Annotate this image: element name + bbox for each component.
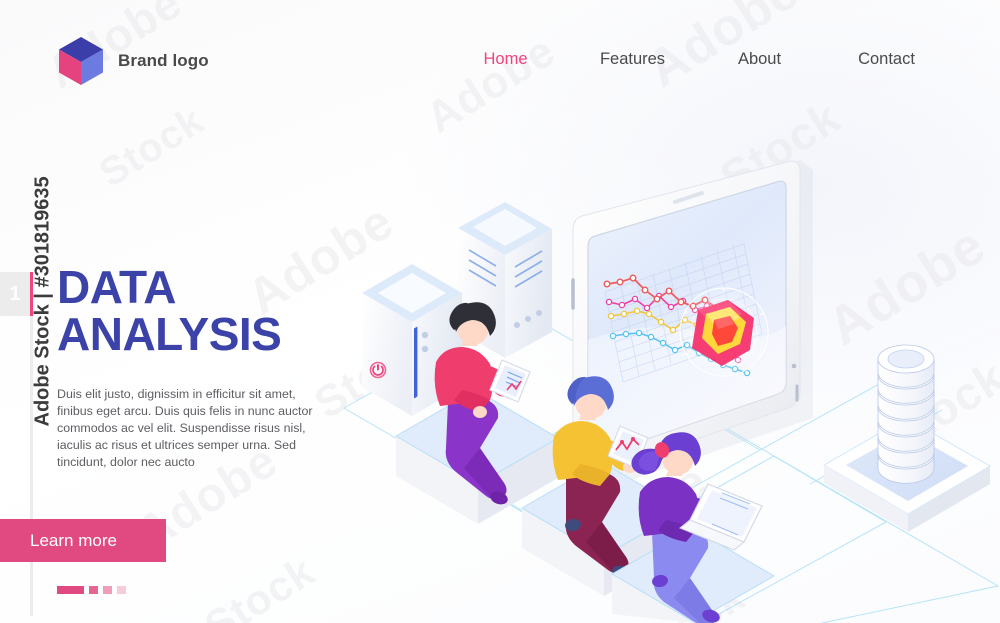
main-navigation: Home Features About Contact <box>442 50 950 69</box>
slide-number-badge: 1 <box>0 272 30 316</box>
site-header: Brand logo Home Features About Contact <box>0 0 1000 110</box>
adobe-stock-watermark: Adobe Stock | #301819635 <box>32 197 55 427</box>
nav-link-home[interactable]: Home <box>442 50 569 69</box>
page-title-line2: ANALYSIS <box>57 308 281 360</box>
pagination-dot-2[interactable] <box>89 586 98 594</box>
pagination-dot-3[interactable] <box>103 586 112 594</box>
isometric-cube-icon <box>57 36 105 86</box>
slide-number: 1 <box>0 272 30 316</box>
nav-link-features[interactable]: Features <box>569 50 696 69</box>
database-disk-stack <box>824 345 990 532</box>
hero-text-block: DATA ANALYSIS Duis elit justo, dignissim… <box>57 264 357 471</box>
nav-link-about[interactable]: About <box>696 50 823 69</box>
power-button-icon <box>371 363 386 378</box>
slider-pagination <box>57 586 126 594</box>
hero-body-text: Duis elit justo, dignissim in efficitur … <box>57 386 314 471</box>
watermark-tile: Stock <box>196 547 323 623</box>
radar-polygon-chart <box>678 286 770 378</box>
disk-group <box>878 345 934 483</box>
isometric-data-analysis-scene <box>330 150 1000 623</box>
landing-page: Adobe Stock Adobe Stock Adobe Stock Adob… <box>0 0 1000 623</box>
brand-logo[interactable]: Brand logo <box>57 36 209 86</box>
pagination-dot-1[interactable] <box>57 586 84 594</box>
learn-more-button[interactable]: Learn more <box>0 519 166 562</box>
nav-link-contact[interactable]: Contact <box>823 50 950 69</box>
page-title: DATA ANALYSIS <box>57 264 357 358</box>
pagination-dot-4[interactable] <box>117 586 126 594</box>
tablet-device-1 <box>490 360 530 402</box>
page-title-line1: DATA <box>57 261 176 313</box>
watermark-tile: Stock <box>92 98 212 197</box>
brand-name: Brand logo <box>118 51 209 71</box>
